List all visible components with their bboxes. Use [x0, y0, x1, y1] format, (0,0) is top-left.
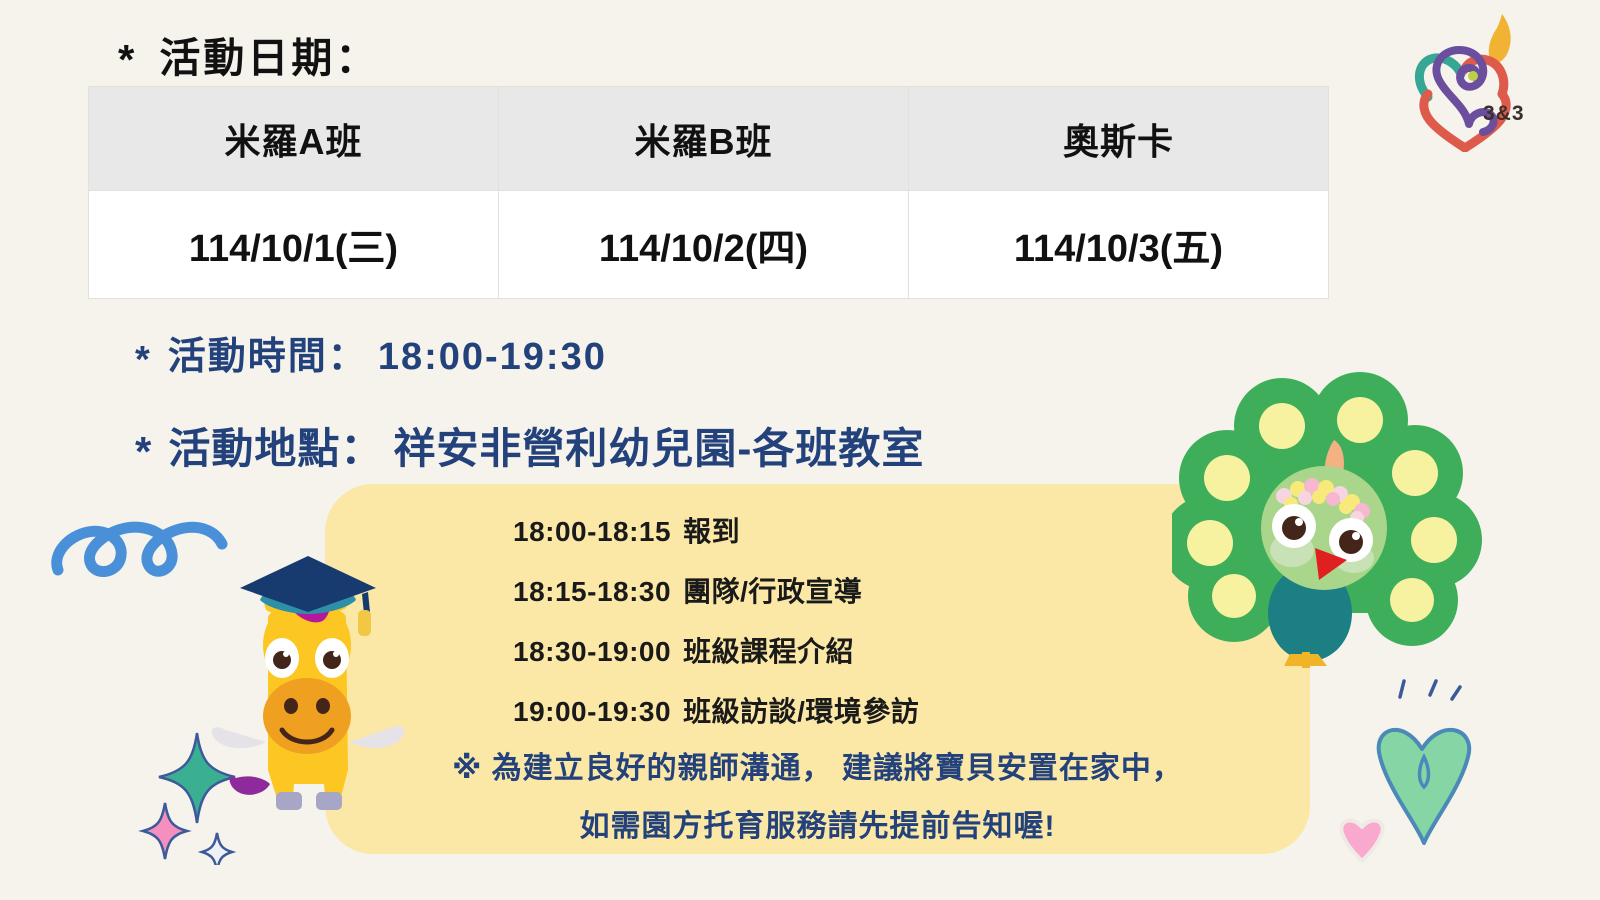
schedule-item-time: 18:15-18:30: [513, 576, 671, 607]
schedule-note: ※ 為建立良好的親師溝通， 建議將寶貝安置在家中， 如需園方托育服務請先提前告知…: [325, 740, 1310, 856]
asterisk-marker-date: *: [118, 36, 137, 84]
table-header-cell-class-2: 米羅B班: [499, 87, 909, 191]
heart-icons: [1300, 645, 1540, 885]
sparkle-line-1: [1400, 681, 1404, 697]
table-cell-date-2: 114/10/2(四): [499, 191, 909, 299]
table-header-row: 米羅A班 米羅B班 奧斯卡: [89, 87, 1329, 191]
schedule-item-activity: 班級課程介紹: [683, 636, 854, 667]
table-cell-date-3: 114/10/3(五): [909, 191, 1329, 299]
schedule-item-activity: 報到: [683, 516, 740, 547]
page-title: *活動日期：: [118, 24, 379, 84]
event-place-label: 活動地點：: [168, 425, 383, 472]
asterisk-marker-place: *: [135, 428, 152, 476]
schedule-list: 18:00-18:15報到 18:15-18:30團隊/行政宣導 18:30-1…: [513, 502, 919, 742]
logo-icon: [1385, 2, 1545, 152]
event-time-value: 18:00-19:30: [378, 336, 607, 378]
schedule-item: 18:15-18:30團隊/行政宣導: [513, 562, 919, 622]
event-place-value: 祥安非營利幼兒園-各班教室: [393, 425, 924, 472]
schedule-note-line-1: ※ 為建立良好的親師溝通， 建議將寶貝安置在家中，: [325, 740, 1310, 798]
class-date-table: 米羅A班 米羅B班 奧斯卡 114/10/1(三) 114/10/2(四) 11…: [88, 86, 1329, 299]
cap-tassel: [358, 610, 371, 636]
horse-wing-left: [212, 727, 266, 748]
horse-wing-right: [350, 726, 404, 748]
schedule-note-line-2: 如需園方托育服務請先提前告知喔!: [325, 798, 1310, 856]
sparkle-white-icon: [202, 833, 232, 865]
peacock-illustration: [1172, 368, 1502, 668]
event-time-line: *活動時間：18:00-19:30: [135, 325, 607, 382]
logo-center-dot: [1468, 71, 1478, 81]
table-row: 114/10/1(三) 114/10/2(四) 114/10/3(五): [89, 191, 1329, 299]
schedule-item-time: 19:00-19:30: [513, 696, 671, 727]
page-title-label: 活動日期：: [159, 35, 379, 81]
table-cell-date-1: 114/10/1(三): [89, 191, 499, 299]
schedule-item: 18:00-18:15報到: [513, 502, 919, 562]
schedule-item-activity: 班級訪談/環境參訪: [683, 696, 919, 727]
schedule-item-activity: 團隊/行政宣導: [683, 576, 862, 607]
horse-hoof-left: [276, 792, 302, 810]
table-header-cell-class-3: 奧斯卡: [909, 87, 1329, 191]
heart-pink-icon: [1341, 820, 1382, 861]
peacock-icon: [1172, 368, 1502, 668]
schedule-item: 18:30-19:00班級課程介紹: [513, 622, 919, 682]
horse-tail: [230, 776, 270, 794]
table-header-cell-class-1: 米羅A班: [89, 87, 499, 191]
schedule-item: 19:00-19:30班級訪談/環境參訪: [513, 682, 919, 742]
sparkle-pink-icon: [143, 803, 187, 859]
horse-mascot-illustration: [198, 540, 428, 835]
asterisk-marker-time: *: [135, 339, 152, 382]
horse-hoof-right: [316, 792, 342, 810]
schedule-item-time: 18:30-19:00: [513, 636, 671, 667]
horse-icon: [198, 540, 428, 835]
schedule-item-time: 18:00-18:15: [513, 516, 671, 547]
graduation-cap-icon: [240, 556, 376, 612]
logo-text: 3&3: [1483, 102, 1525, 126]
sparkle-line-2: [1430, 681, 1436, 695]
sparkle-line-3: [1452, 687, 1460, 699]
organization-logo: 3&3: [1385, 2, 1545, 152]
event-time-label: 活動時間：: [168, 336, 368, 378]
heart-decorations-right: [1300, 645, 1540, 885]
horse-nostril-left: [284, 698, 298, 714]
event-place-line: *活動地點：祥安非營利幼兒園-各班教室: [135, 415, 924, 476]
horse-nostril-right: [316, 698, 330, 714]
flame-icon: [1489, 14, 1511, 63]
